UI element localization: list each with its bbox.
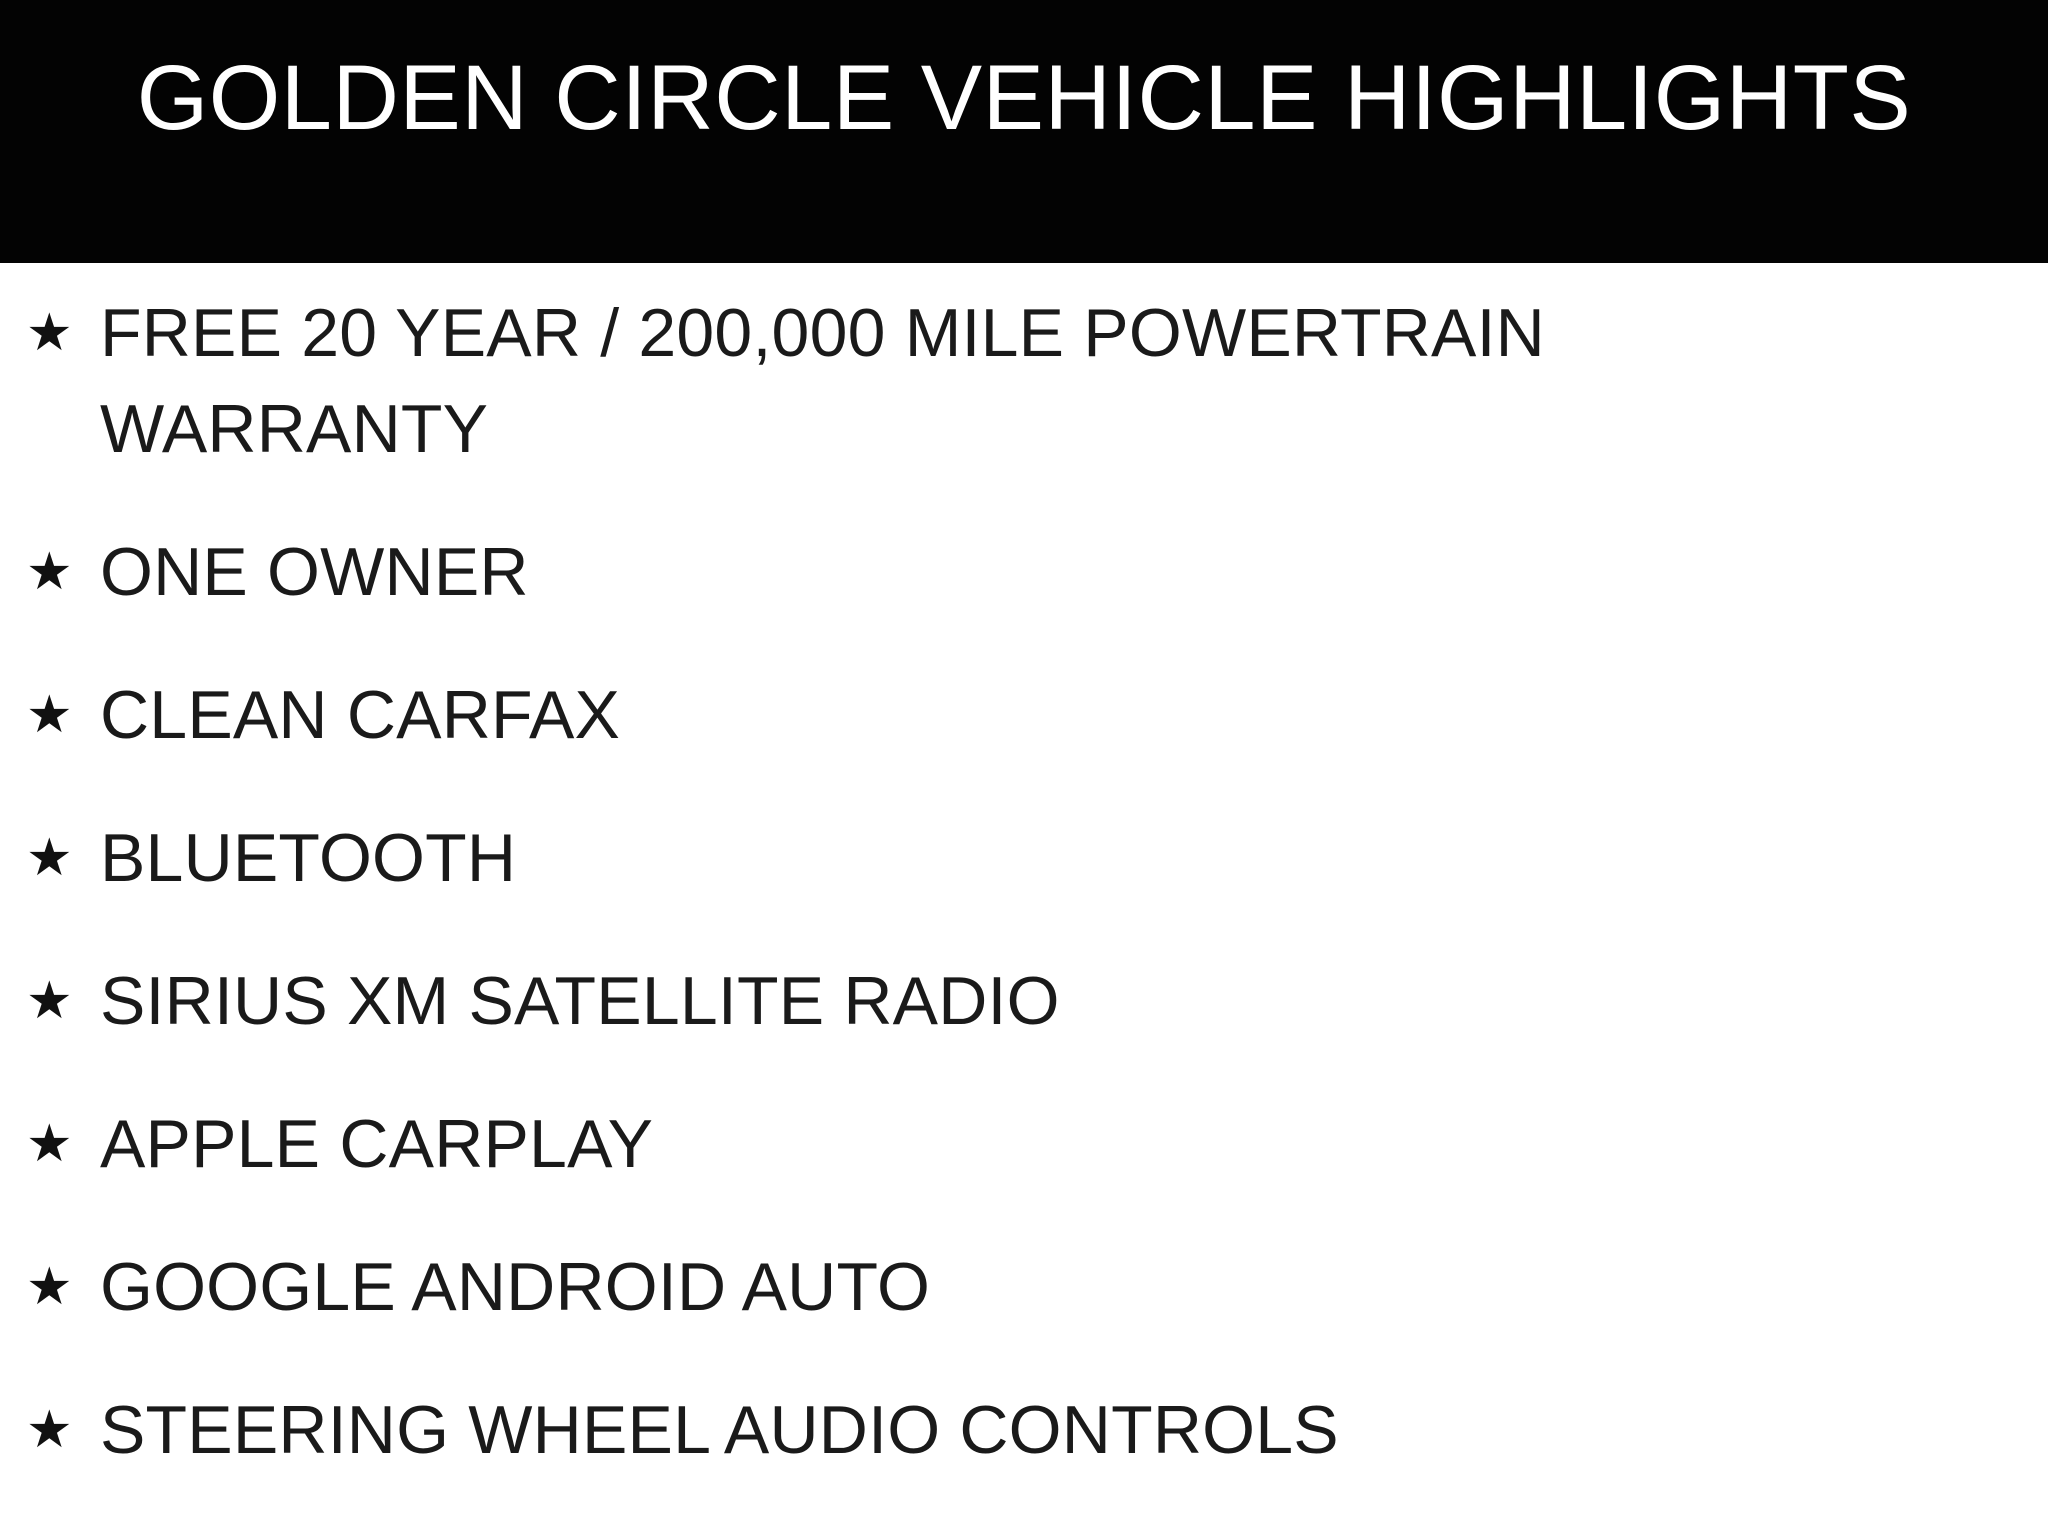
highlight-label: STEERING WHEEL AUDIO CONTROLS [100,1382,1720,1478]
highlight-label: CLEAN CARFAX [100,667,1720,763]
star-icon: ★ [22,667,100,763]
star-icon: ★ [22,810,100,906]
list-item: ★ SIRIUS XM SATELLITE RADIO [22,953,2008,1049]
star-icon: ★ [22,1382,100,1478]
highlight-label: FREE 20 YEAR / 200,000 MILE POWERTRAIN W… [100,285,1720,477]
highlight-label: APPLE CARPLAY [100,1096,1720,1192]
star-icon: ★ [22,953,100,1049]
list-item: ★ ONE OWNER [22,524,2008,620]
list-item: ★ FREE 20 YEAR / 200,000 MILE POWERTRAIN… [22,285,2008,477]
star-icon: ★ [22,1096,100,1192]
list-item: ★ GOOGLE ANDROID AUTO [22,1239,2008,1335]
highlights-list: ★ FREE 20 YEAR / 200,000 MILE POWERTRAIN… [0,263,2048,1536]
star-icon: ★ [22,1239,100,1335]
list-item: ★ CLEAN CARFAX [22,667,2008,763]
star-icon: ★ [22,524,100,620]
header-band: GOLDEN CIRCLE VEHICLE HIGHLIGHTS [0,0,2048,263]
vehicle-highlights-page: GOLDEN CIRCLE VEHICLE HIGHLIGHTS ★ FREE … [0,0,2048,1536]
highlight-label: GOOGLE ANDROID AUTO [100,1239,1720,1335]
highlight-label: BLUETOOTH [100,810,1720,906]
list-item: ★ STEERING WHEEL AUDIO CONTROLS [22,1382,2008,1478]
list-item: ★ BLUETOOTH [22,810,2008,906]
page-title: GOLDEN CIRCLE VEHICLE HIGHLIGHTS [137,52,1912,144]
highlight-label: ONE OWNER [100,524,1720,620]
list-item: ★ APPLE CARPLAY [22,1096,2008,1192]
star-icon: ★ [22,285,100,381]
highlight-label: SIRIUS XM SATELLITE RADIO [100,953,1720,1049]
